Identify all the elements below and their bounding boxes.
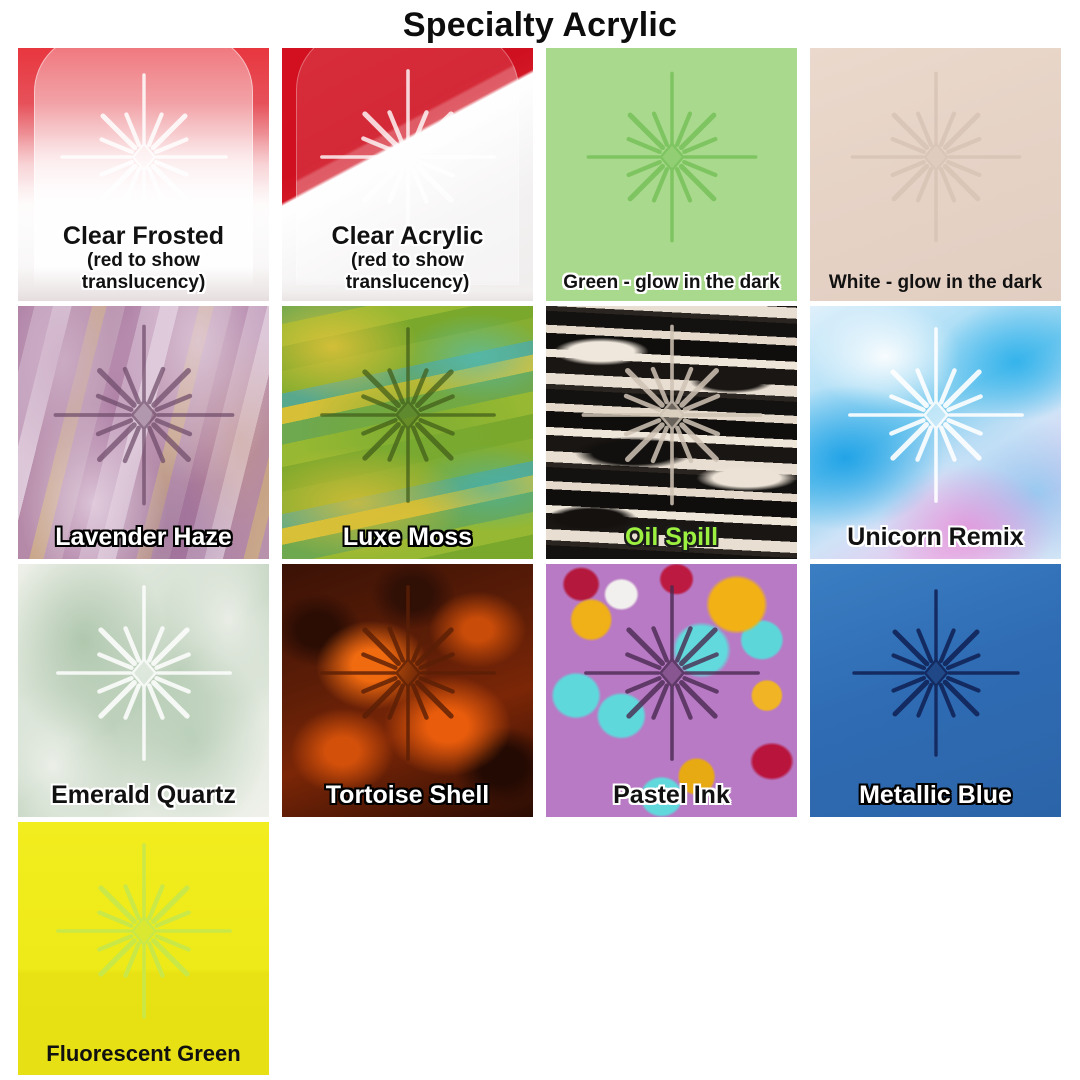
swatch-material-metallicblue bbox=[810, 564, 1061, 817]
swatch-label: Luxe Moss bbox=[282, 523, 533, 551]
swatch-tile[interactable]: Clear Frosted(red to showtranslucency) bbox=[18, 48, 269, 301]
swatch-tile[interactable]: Clear Acrylic(red to showtranslucency) bbox=[282, 48, 533, 301]
swatch-material-luxemoss bbox=[282, 306, 533, 559]
swatch-material-emerald bbox=[18, 564, 269, 817]
swatch-material-fluorgreen bbox=[18, 822, 269, 1075]
swatch-tile[interactable]: Pastel Ink bbox=[546, 564, 797, 817]
swatch-material-pastelink bbox=[546, 564, 797, 817]
swatch-tile[interactable]: Unicorn Remix bbox=[810, 306, 1061, 559]
swatch-label: Emerald Quartz bbox=[18, 781, 269, 809]
swatch-tile[interactable]: Tortoise Shell bbox=[282, 564, 533, 817]
swatch-label: Oil Spill bbox=[546, 523, 797, 551]
swatch-subtitle-line-1: (red to show bbox=[22, 250, 265, 271]
swatch-name: Clear Acrylic bbox=[286, 222, 529, 250]
swatch-name: White - glow in the dark bbox=[814, 272, 1057, 293]
swatch-label: White - glow in the dark bbox=[810, 272, 1061, 293]
swatch-material-glow-green bbox=[546, 48, 797, 301]
swatch-grid: Clear Frosted(red to showtranslucency)Cl… bbox=[18, 48, 1060, 1075]
swatch-material-lavender bbox=[18, 306, 269, 559]
swatch-tile[interactable]: Lavender Haze bbox=[18, 306, 269, 559]
swatch-name: Luxe Moss bbox=[286, 523, 529, 551]
swatch-label: Clear Acrylic(red to showtranslucency) bbox=[282, 222, 533, 293]
swatch-subtitle-line-2: translucency) bbox=[22, 272, 265, 293]
swatch-name: Lavender Haze bbox=[22, 523, 265, 551]
swatch-material-unicorn bbox=[810, 306, 1061, 559]
swatch-label: Clear Frosted(red to showtranslucency) bbox=[18, 222, 269, 293]
swatch-subtitle-line-1: (red to show bbox=[286, 250, 529, 271]
swatch-name: Fluorescent Green bbox=[22, 1042, 265, 1067]
swatch-label: Lavender Haze bbox=[18, 523, 269, 551]
swatch-tile[interactable]: White - glow in the dark bbox=[810, 48, 1061, 301]
swatch-material-glow-white bbox=[810, 48, 1061, 301]
specialty-acrylic-swatch-sheet: Specialty Acrylic Clear Frosted(red to s… bbox=[0, 0, 1080, 1080]
swatch-name: Tortoise Shell bbox=[286, 781, 529, 809]
swatch-subtitle-line-2: translucency) bbox=[286, 272, 529, 293]
swatch-label: Fluorescent Green bbox=[18, 1042, 269, 1067]
swatch-name: Clear Frosted bbox=[22, 222, 265, 250]
swatch-name: Pastel Ink bbox=[550, 781, 793, 809]
swatch-tile[interactable]: Metallic Blue bbox=[810, 564, 1061, 817]
swatch-name: Metallic Blue bbox=[814, 781, 1057, 809]
page-title: Specialty Acrylic bbox=[0, 0, 1080, 42]
swatch-label: Tortoise Shell bbox=[282, 781, 533, 809]
swatch-label: Pastel Ink bbox=[546, 781, 797, 809]
swatch-name: Oil Spill bbox=[550, 523, 793, 551]
swatch-tile[interactable]: Green - glow in the dark bbox=[546, 48, 797, 301]
swatch-tile[interactable]: Oil Spill bbox=[546, 306, 797, 559]
swatch-tile[interactable]: Luxe Moss bbox=[282, 306, 533, 559]
swatch-label: Green - glow in the dark bbox=[546, 272, 797, 293]
swatch-name: Emerald Quartz bbox=[22, 781, 265, 809]
swatch-label: Unicorn Remix bbox=[810, 523, 1061, 551]
swatch-name: Unicorn Remix bbox=[814, 523, 1057, 551]
swatch-label: Metallic Blue bbox=[810, 781, 1061, 809]
swatch-material-oilspill bbox=[546, 306, 797, 559]
swatch-tile[interactable]: Fluorescent Green bbox=[18, 822, 269, 1075]
swatch-tile[interactable]: Emerald Quartz bbox=[18, 564, 269, 817]
swatch-material-tortoise bbox=[282, 564, 533, 817]
swatch-name: Green - glow in the dark bbox=[550, 272, 793, 293]
